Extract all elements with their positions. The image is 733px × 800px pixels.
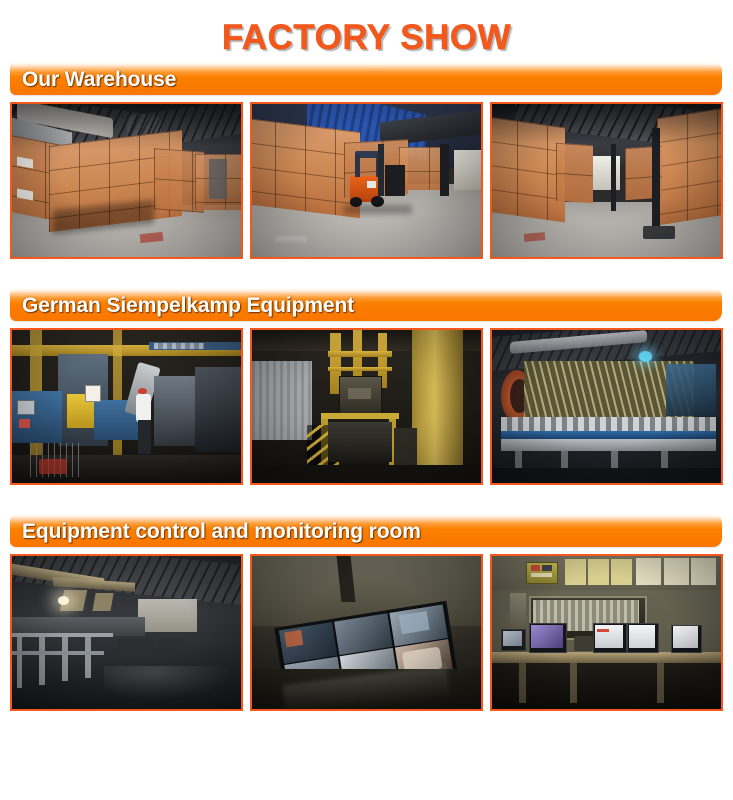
section-header-bar: Our Warehouse [10,62,722,95]
image-row [10,554,723,711]
section-header-bar: Equipment control and monitoring room [10,514,722,547]
photo-factory-pipes[interactable] [250,328,483,485]
page-title: FACTORY SHOW [0,0,733,62]
section-heading: Our Warehouse [22,65,176,95]
photo-control-room[interactable] [490,554,723,711]
photo-factory-pressline[interactable] [490,328,723,485]
section-heading: German Siempelkamp Equipment [22,291,354,321]
photo-warehouse-stacks-left[interactable] [10,102,243,259]
image-row [10,328,723,485]
section-header-bar: German Siempelkamp Equipment [10,288,722,321]
photo-factory-press[interactable] [10,328,243,485]
section-equipment-control-and-monitoring-room: Equipment control and monitoring room [10,514,723,711]
factory-show-page: FACTORY SHOW Our Warehouse [0,0,733,800]
photo-warehouse-forklift[interactable] [250,102,483,259]
image-row [10,102,723,259]
section-our-warehouse: Our Warehouse [10,62,723,259]
section-german-siempelkamp-equipment: German Siempelkamp Equipment [10,288,723,485]
photo-hall-conveyor[interactable] [10,554,243,711]
section-heading: Equipment control and monitoring room [22,517,421,547]
photo-video-wall[interactable] [250,554,483,711]
photo-warehouse-corridor[interactable] [490,102,723,259]
